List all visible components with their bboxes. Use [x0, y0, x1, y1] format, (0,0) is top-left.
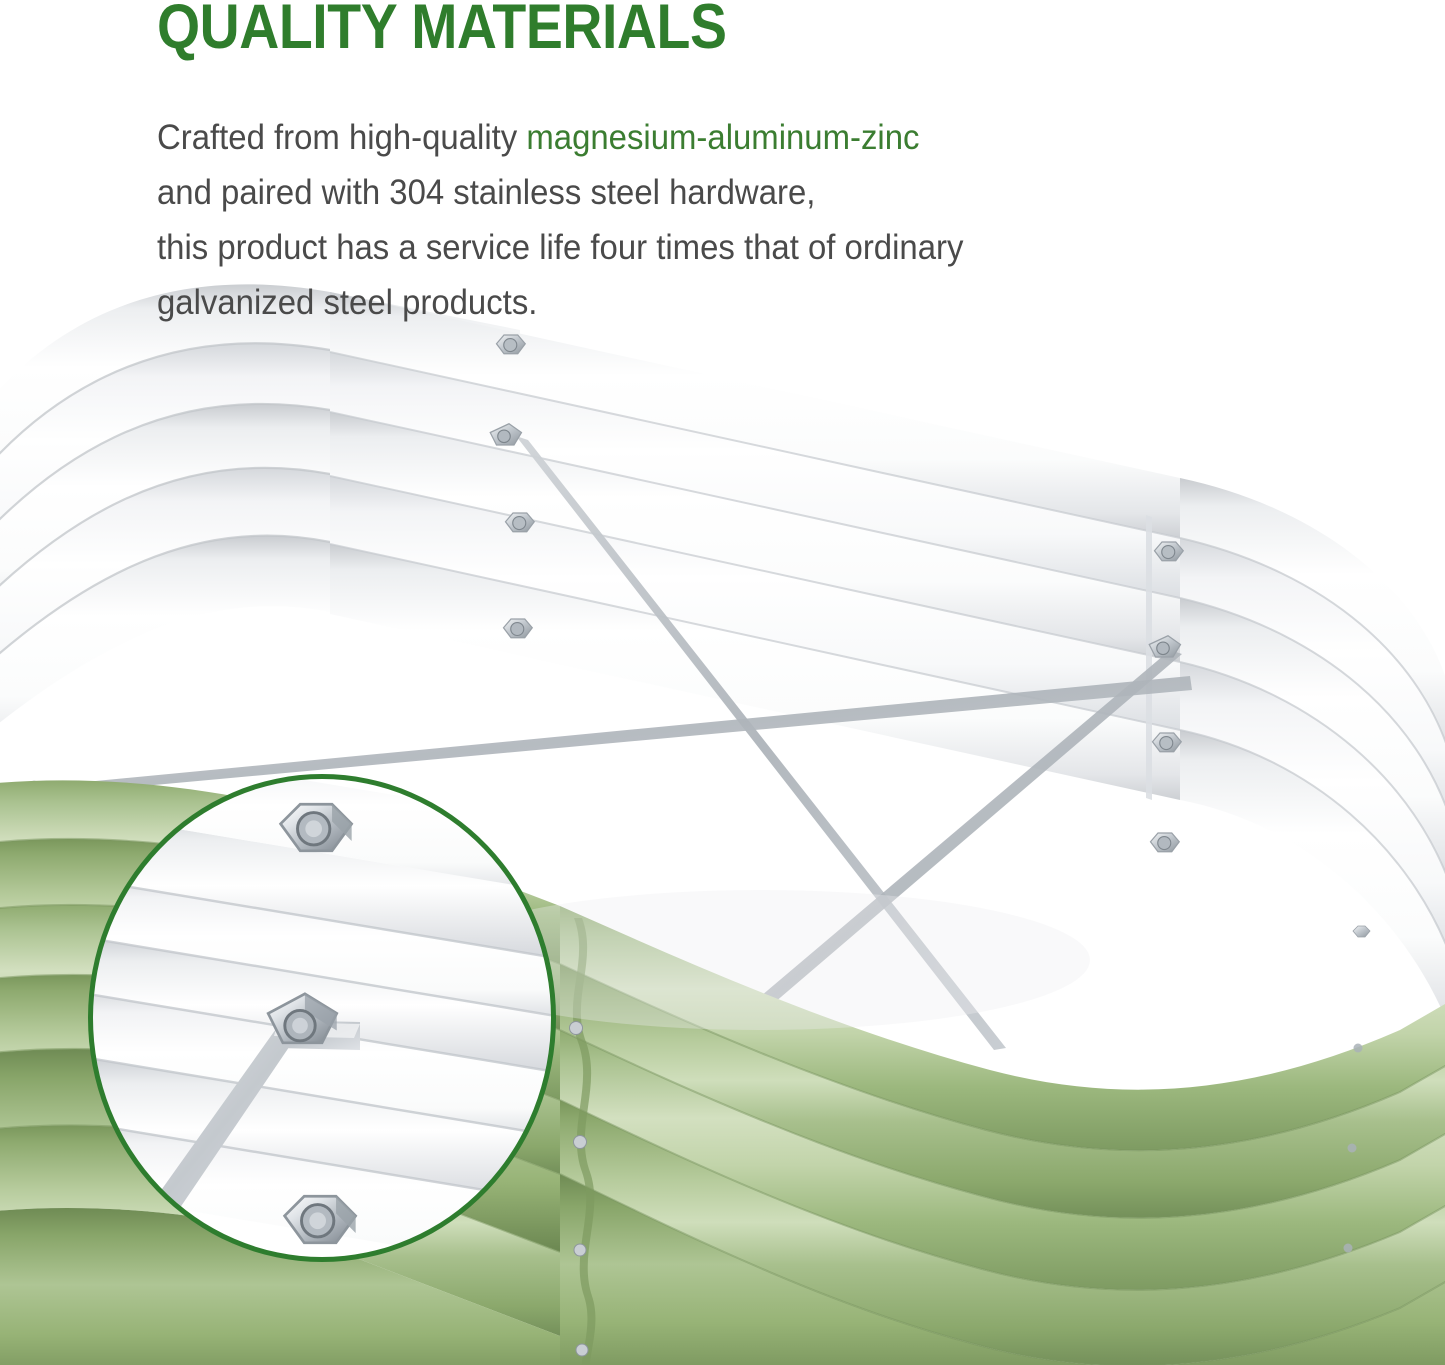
description-line-4: galvanized steel products. [157, 275, 1210, 330]
magnifier-lens [92, 778, 552, 1258]
description-line-1-prefix: Crafted from high-quality [157, 118, 526, 157]
magnifier-callout [88, 774, 556, 1262]
description-line-1: Crafted from high-quality magnesium-alum… [157, 110, 1210, 165]
material-highlight: magnesium-aluminum-zinc [526, 118, 919, 157]
text-block: QUALITY MATERIALS Crafted from high-qual… [0, 0, 1445, 330]
description-text: Crafted from high-quality magnesium-alum… [157, 110, 1210, 330]
magnified-hardware-detail [92, 778, 552, 1258]
page-title: QUALITY MATERIALS [157, 0, 726, 59]
description-line-2: and paired with 304 stainless steel hard… [157, 165, 1210, 220]
white-rim-right-curve [1180, 478, 1445, 1034]
description-line-3: this product has a service life four tim… [157, 220, 1210, 275]
